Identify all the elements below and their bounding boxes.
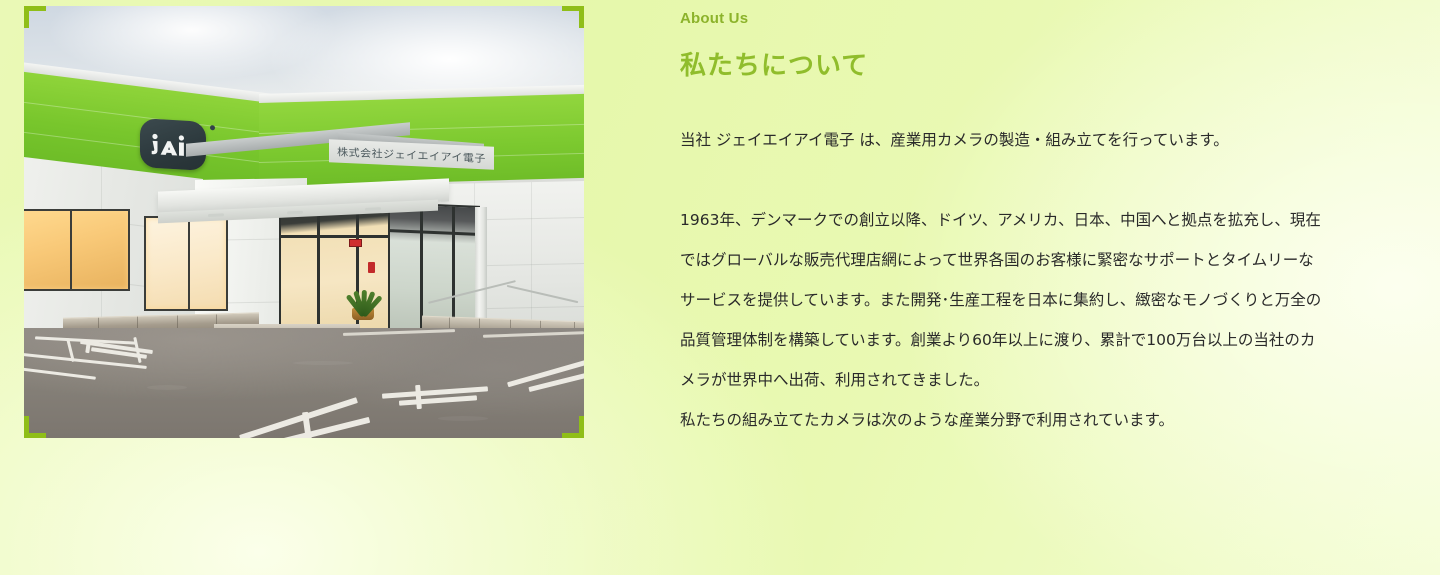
parking-lot-asphalt [24, 328, 584, 438]
parking-line [343, 329, 455, 336]
ground-marking [415, 385, 422, 410]
parking-line [24, 367, 97, 380]
frame-corner-bottom-right [562, 416, 584, 438]
entrance-red-sign [349, 239, 362, 247]
window-center-pale [144, 216, 228, 311]
company-building-photo: 株式会社ジェイエイアイ電子 [24, 6, 584, 438]
frame-corner-top-left [24, 6, 46, 28]
fire-extinguisher-sign [368, 262, 375, 273]
ground-marking [239, 397, 358, 438]
parking-line [483, 332, 584, 339]
ground-marking [85, 342, 90, 353]
about-photo-panel: 株式会社ジェイエイアイ電子 [24, 6, 584, 438]
canopy-downlight [287, 211, 303, 215]
frame-corner-bottom-left [24, 416, 46, 438]
entrance-potted-plant [343, 274, 383, 316]
company-name-sign-text: 株式会社ジェイエイアイ電子 [337, 143, 486, 165]
window-left-lit [24, 209, 130, 291]
about-body-copy: 当社 ジェイエイアイ電子 は、産業用カメラの製造・組み立てを行っています。 19… [680, 120, 1328, 440]
section-eyebrow: About Us [680, 10, 748, 27]
body-paragraph-3: 私たちの組み立てたカメラは次のような産業分野で利用されています。 [680, 400, 1328, 440]
about-text-column: About Us 私たちについて 当社 ジェイエイアイ電子 は、産業用カメラの製… [680, 0, 1340, 575]
body-paragraph-1: 当社 ジェイエイアイ電子 は、産業用カメラの製造・組み立てを行っています。 [680, 120, 1328, 160]
ground-marking [399, 396, 478, 406]
page-title: 私たちについて [680, 45, 868, 82]
body-paragraph-2: 1963年、デンマークでの創立以降、ドイツ、アメリカ、日本、中国へと拠点を拡充し… [680, 200, 1328, 400]
frame-corner-top-right [562, 6, 584, 28]
canopy-downlight [366, 208, 382, 212]
paragraph-spacer [680, 160, 1328, 200]
canopy-downlight [209, 214, 225, 218]
